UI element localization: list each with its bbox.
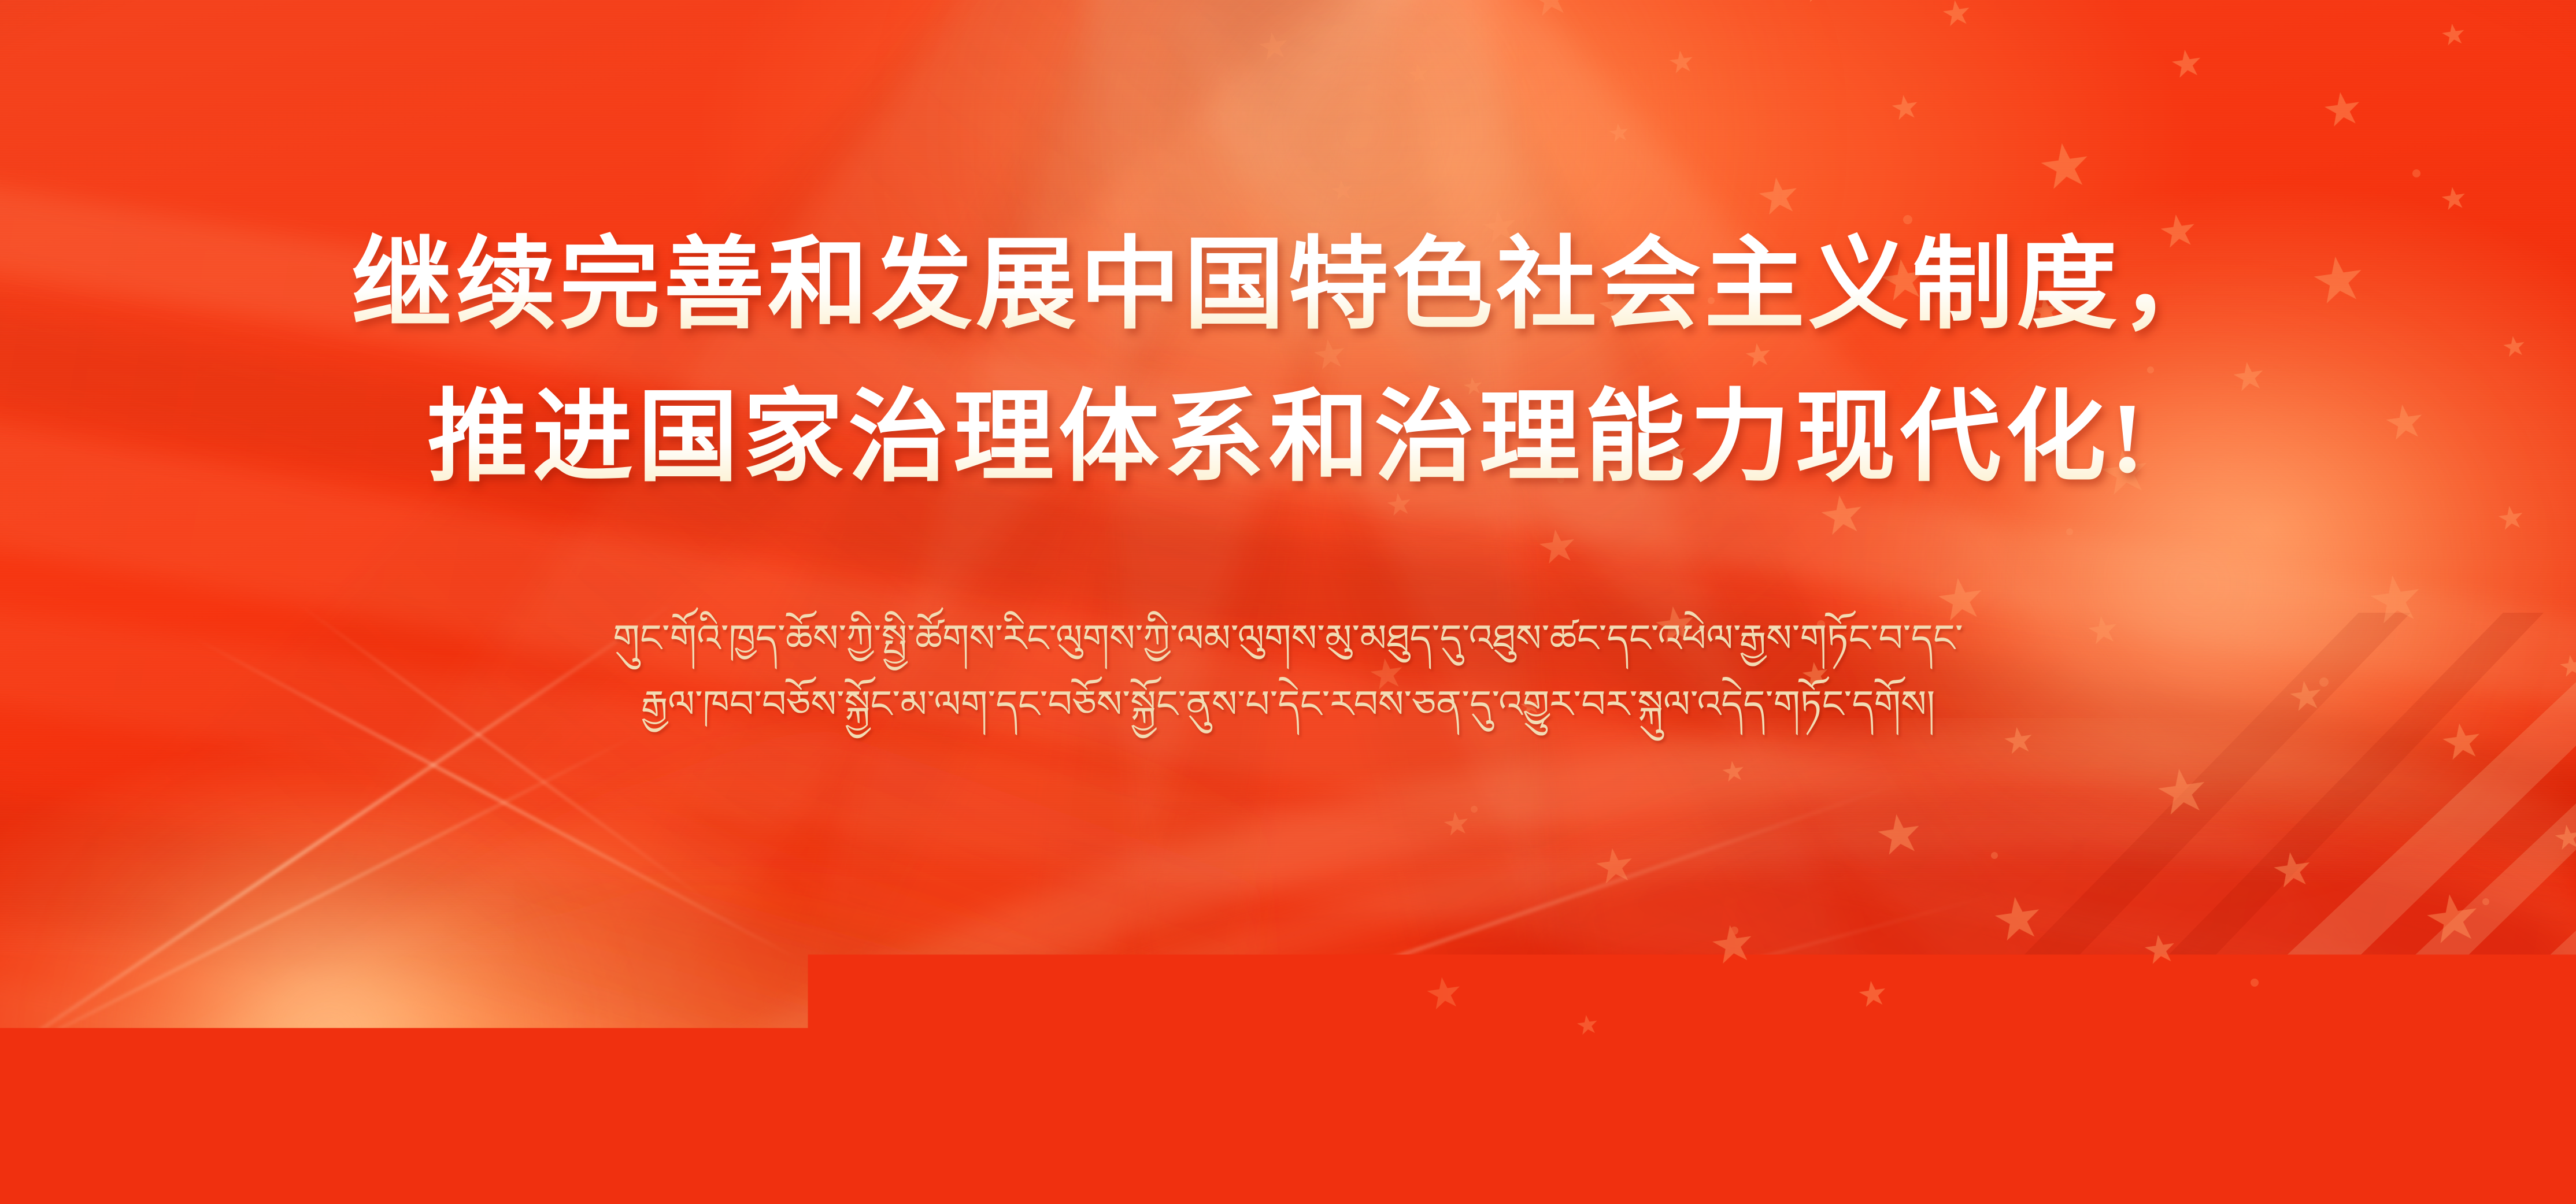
tibetan-block: གུང་གོའི་ཁྱད་ཆོས་ཀྱི་སྤྱི་ཚོགས་རིང་ལུགས་… bbox=[0, 606, 2576, 737]
tibetan-line-2: རྒྱལ་ཁབ་བཅོས་སྐྱོང་མ་ལག་དང་བཅོས་སྐྱོང་ནུ… bbox=[0, 672, 2576, 738]
banner-canvas: 继续完善和发展中国特色社会主义制度， 推进国家治理体系和治理能力现代化! གུང… bbox=[0, 0, 2576, 1204]
tibetan-line-1: གུང་གོའི་ཁྱད་ཆོས་ཀྱི་སྤྱི་ཚོགས་རིང་ལུགས་… bbox=[0, 606, 2576, 672]
headline-block: 继续完善和发展中国特色社会主义制度， 推进国家治理体系和治理能力现代化! bbox=[0, 209, 2576, 515]
headline-line-1: 继续完善和发展中国特色社会主义制度， bbox=[0, 209, 2576, 362]
headline-line-2: 推进国家治理体系和治理能力现代化! bbox=[0, 362, 2576, 514]
banner-content: 继续完善和发展中国特色社会主义制度， 推进国家治理体系和治理能力现代化! གུང… bbox=[0, 0, 2576, 1204]
company-logo: 西藏建工建材集团 bbox=[952, 1028, 1624, 1125]
company-name-wordmark: 西藏建工建材集团 bbox=[1091, 1026, 1628, 1126]
mountain-building-emblem-icon bbox=[952, 1028, 1075, 1125]
